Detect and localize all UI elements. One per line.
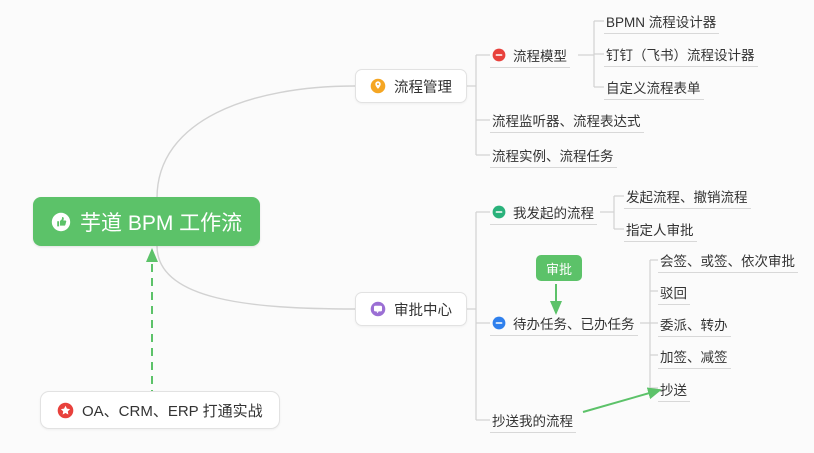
note-card[interactable]: OA、CRM、ERP 打通实战 — [40, 391, 280, 429]
leaf-label: 我发起的流程 — [513, 202, 594, 222]
approval-tag-label: 审批 — [546, 259, 572, 278]
minus-circle-icon — [492, 205, 506, 219]
leaf-label: 钉钉（飞书）流程设计器 — [606, 44, 755, 64]
leaf-process-model[interactable]: 流程模型 — [490, 42, 570, 68]
star-circle-icon — [57, 402, 74, 419]
note-card-label: OA、CRM、ERP 打通实战 — [82, 400, 263, 421]
leaf-label: 自定义流程表单 — [606, 77, 701, 97]
leaf-label: 委派、转办 — [660, 314, 728, 334]
thumbs-up-icon — [51, 212, 71, 232]
mindmap-canvas: 芋道 BPM 工作流 流程管理 流程模型 BPMN 流程设计器 钉钉（飞书）流程… — [0, 0, 814, 453]
leaf-countersign[interactable]: 会签、或签、依次审批 — [658, 247, 798, 273]
leaf-label: 会签、或签、依次审批 — [660, 250, 795, 270]
message-circle-icon — [370, 301, 386, 317]
leaf-custom-form[interactable]: 自定义流程表单 — [604, 74, 704, 100]
leaf-label: 驳回 — [660, 282, 687, 302]
leaf-cc-to-me[interactable]: 抄送我的流程 — [490, 407, 576, 433]
leaf-delegate-transfer[interactable]: 委派、转办 — [658, 311, 731, 337]
leaf-label: 指定人审批 — [626, 219, 694, 239]
leaf-label: 待办任务、已办任务 — [513, 313, 635, 333]
leaf-listener-expression[interactable]: 流程监听器、流程表达式 — [490, 107, 644, 133]
leaf-instance-task[interactable]: 流程实例、流程任务 — [490, 142, 617, 168]
branch-node-process-management[interactable]: 流程管理 — [355, 69, 467, 103]
leaf-label: 流程模型 — [513, 45, 567, 65]
root-label: 芋道 BPM 工作流 — [80, 207, 242, 237]
location-pin-icon — [370, 78, 386, 94]
leaf-todo-done-tasks[interactable]: 待办任务、已办任务 — [490, 310, 638, 336]
leaf-label: 抄送我的流程 — [492, 410, 573, 430]
leaf-label: 流程监听器、流程表达式 — [492, 110, 641, 130]
branch-label: 审批中心 — [394, 299, 452, 320]
leaf-cc[interactable]: 抄送 — [658, 376, 690, 402]
minus-circle-icon — [492, 48, 506, 62]
leaf-label: 加签、减签 — [660, 346, 728, 366]
leaf-dingtalk-designer[interactable]: 钉钉（飞书）流程设计器 — [604, 41, 758, 67]
branch-node-approval-center[interactable]: 审批中心 — [355, 292, 467, 326]
branch-label: 流程管理 — [394, 76, 452, 97]
minus-circle-icon — [492, 316, 506, 330]
leaf-label: 抄送 — [660, 379, 687, 399]
leaf-label: BPMN 流程设计器 — [606, 11, 716, 31]
leaf-bpmn-designer[interactable]: BPMN 流程设计器 — [604, 8, 719, 34]
leaf-my-started-processes[interactable]: 我发起的流程 — [490, 199, 597, 225]
leaf-add-remove-sign[interactable]: 加签、减签 — [658, 343, 731, 369]
root-node[interactable]: 芋道 BPM 工作流 — [33, 197, 260, 246]
leaf-reject[interactable]: 驳回 — [658, 279, 690, 305]
leaf-start-cancel-process[interactable]: 发起流程、撤销流程 — [624, 183, 751, 209]
approval-tag[interactable]: 审批 — [536, 255, 582, 281]
leaf-assign-approver[interactable]: 指定人审批 — [624, 216, 697, 242]
leaf-label: 发起流程、撤销流程 — [626, 186, 748, 206]
leaf-label: 流程实例、流程任务 — [492, 145, 614, 165]
